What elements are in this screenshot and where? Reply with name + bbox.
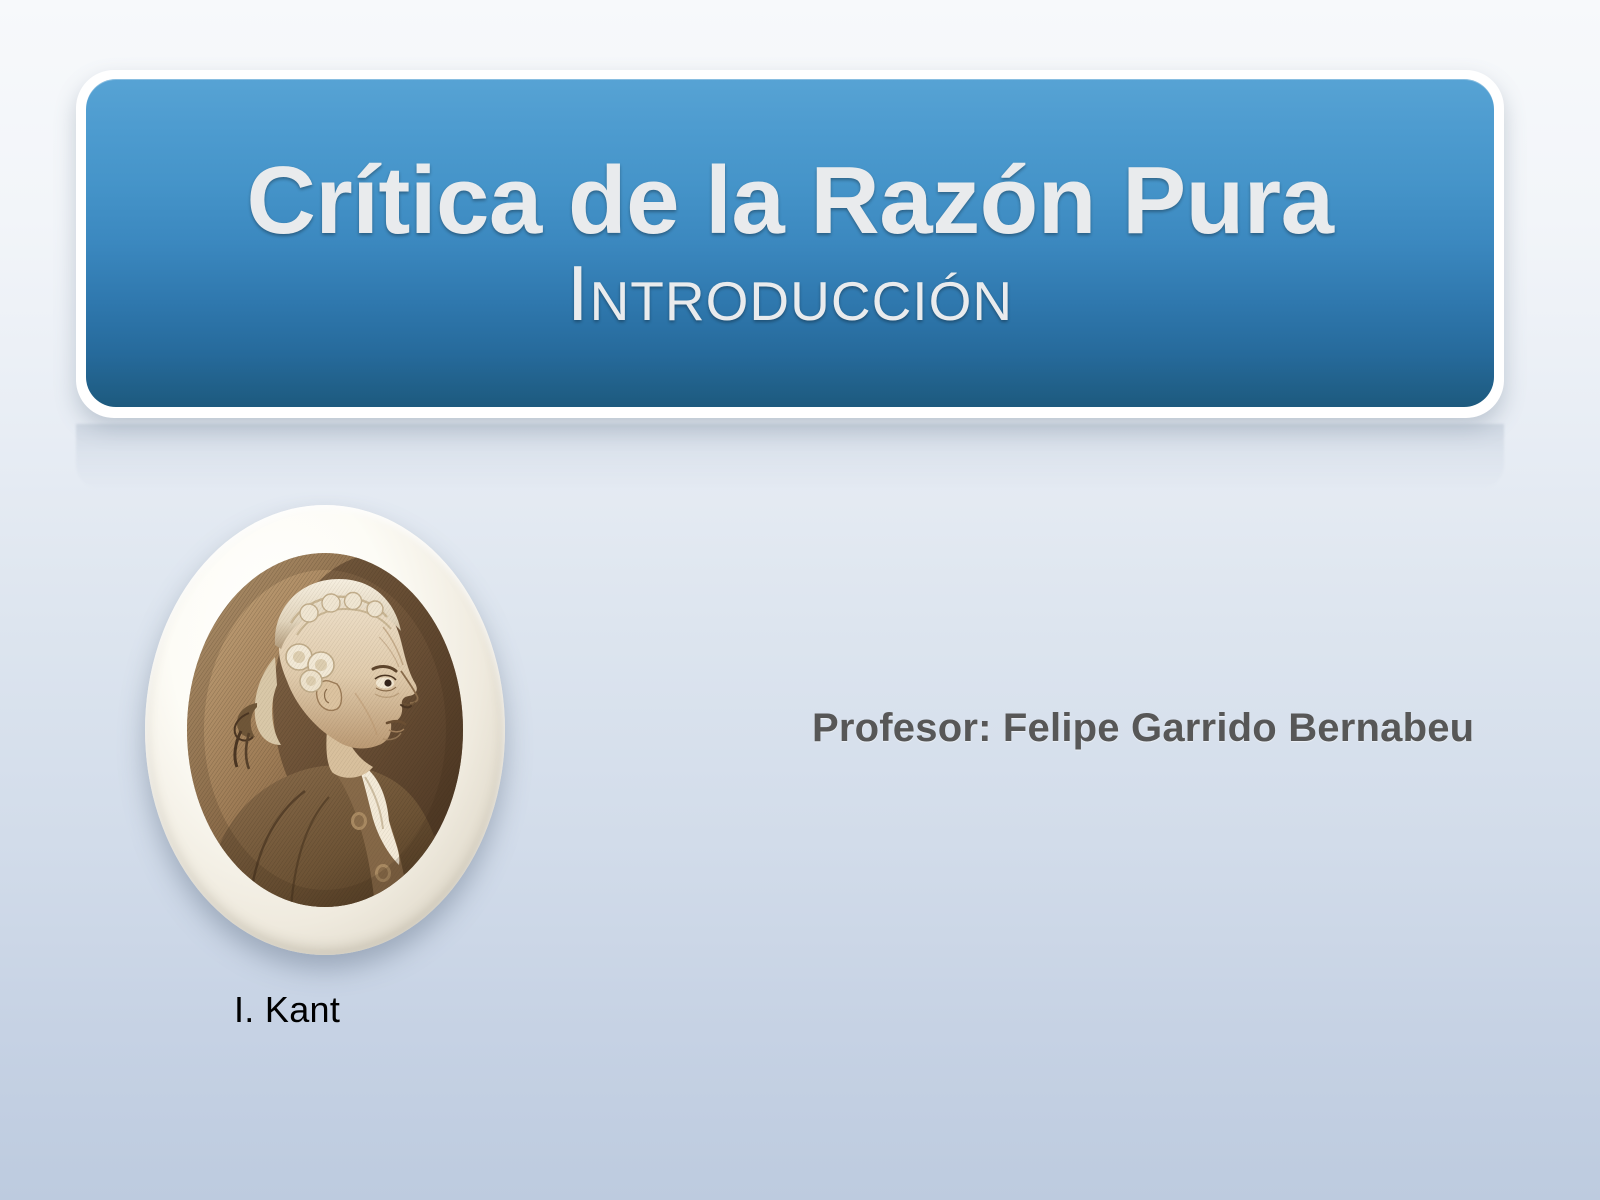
portrait-caption: I. Kant <box>130 989 520 1031</box>
portrait-oval-frame <box>145 505 505 955</box>
kant-engraving-icon <box>187 553 463 907</box>
portrait-image <box>187 553 463 907</box>
title-banner: Crítica de la Razón Pura Introducción <box>76 70 1504 418</box>
presentation-slide: Crítica de la Razón Pura Introducción <box>0 0 1600 1200</box>
professor-credit: Profesor: Felipe Garrido Bernabeu <box>812 706 1474 751</box>
slide-title-subtitle: Introducción <box>567 252 1013 335</box>
portrait-block: I. Kant <box>130 505 520 1031</box>
title-banner-body: Crítica de la Razón Pura Introducción <box>86 79 1494 407</box>
banner-reflection <box>76 424 1504 490</box>
slide-title-main: Crítica de la Razón Pura <box>247 152 1334 250</box>
